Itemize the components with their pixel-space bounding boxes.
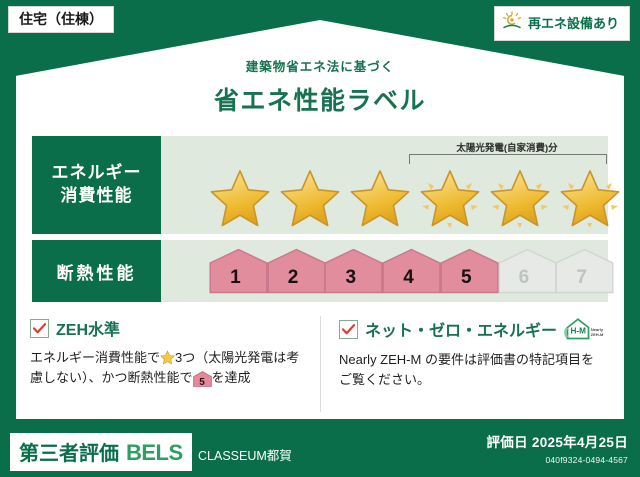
insulation-grade-1: 1 <box>209 248 262 294</box>
label-footer: 第三者評価 BELS CLASSEUM都賀 評価日 2025年4月25日 040… <box>0 419 640 477</box>
footer-meta: 評価日 2025年4月25日 040f9324-0494-4567 <box>486 431 628 465</box>
zeh-standard-checkbox <box>30 319 49 338</box>
insulation-grade-5: 5 <box>440 248 493 294</box>
check-icon <box>33 323 46 334</box>
energy-label-line1: エネルギー <box>52 162 142 185</box>
energy-performance-panel: エネルギー 消費性能 太陽光発電(自家消費)分 <box>32 136 608 234</box>
heading-subtitle: 建築物省エネ法に基づく <box>0 56 640 75</box>
net-zero-energy-header: ネット・ゼロ・エネルギー H-M Nearly ZEH-M <box>339 316 606 342</box>
inline-grade-badge: 5 <box>193 371 212 387</box>
net-zero-energy-body: Nearly ZEH-M の要件は評価書の特記項目をご覧ください。 <box>339 350 606 390</box>
solar-bracket <box>409 154 607 164</box>
net-zero-energy-column: ネット・ゼロ・エネルギー H-M Nearly ZEH-M Nearly ZEH… <box>320 316 620 412</box>
insulation-grade-2: 2 <box>267 248 320 294</box>
zeh-m-logo-icon: H-M Nearly ZEH-M <box>564 316 606 342</box>
heading-title: 省エネ性能ラベル <box>0 81 640 117</box>
star-solar <box>419 168 481 230</box>
energy-performance-label-box: エネルギー 消費性能 <box>32 136 161 234</box>
insulation-performance-panel: 断熱性能 1234567 <box>32 240 608 302</box>
net-zero-energy-title: ネット・ゼロ・エネルギー <box>365 317 557 341</box>
grade-value: 6 <box>519 267 530 289</box>
bels-certification-box: 第三者評価 BELS <box>10 433 192 471</box>
insulation-grade-7: 7 <box>555 248 608 294</box>
evaluation-date: 評価日 2025年4月25日 <box>486 431 628 451</box>
criteria-columns: ZEH水準 エネルギー消費性能で3つ（太陽光発電は考慮しない）、かつ断熱性能で5… <box>20 316 620 412</box>
sun-icon <box>501 11 523 36</box>
insulation-grade-6: 6 <box>498 248 551 294</box>
zeh-body-part3: を達成 <box>212 370 251 385</box>
bels-en-label: BELS <box>126 440 183 466</box>
zeh-m-logo-text: H-M <box>570 327 586 336</box>
insulation-label: 断熱性能 <box>57 259 137 284</box>
zeh-standard-column: ZEH水準 エネルギー消費性能で3つ（太陽光発電は考慮しない）、かつ断熱性能で5… <box>20 316 320 412</box>
net-zero-checkbox <box>339 320 358 339</box>
renewable-equipment-label: 再エネ設備あり <box>528 17 619 30</box>
star-icon <box>209 168 271 230</box>
energy-stars-area: 太陽光発電(自家消費)分 <box>161 136 608 234</box>
inline-grade-value: 5 <box>199 377 205 388</box>
insulation-performance-label-box: 断熱性能 <box>32 240 161 302</box>
grade-value: 1 <box>230 267 241 289</box>
star-icon <box>489 168 551 230</box>
zeh-standard-title: ZEH水準 <box>56 316 120 340</box>
zeh-m-logo-sub2: ZEH-M <box>591 332 604 337</box>
zeh-body-part1: エネルギー消費性能で <box>30 350 160 365</box>
star-solar <box>559 168 621 230</box>
star-icon <box>279 168 341 230</box>
insulation-grades-area: 1234567 <box>161 240 608 302</box>
star-filled <box>209 168 271 230</box>
insulation-grade-3: 3 <box>324 248 377 294</box>
star-filled <box>349 168 411 230</box>
grade-value: 5 <box>461 267 472 289</box>
insulation-grade-row: 1234567 <box>161 248 608 294</box>
star-icon <box>419 168 481 230</box>
inline-star-icon <box>160 350 175 365</box>
building-name: CLASSEUM都賀 <box>198 445 292 464</box>
grade-value: 2 <box>288 267 299 289</box>
zeh-standard-body: エネルギー消費性能で3つ（太陽光発電は考慮しない）、かつ断熱性能で5を達成 <box>30 348 306 388</box>
star-solar <box>489 168 551 230</box>
check-icon <box>342 324 355 335</box>
star-icon <box>559 168 621 230</box>
label-heading: 建築物省エネ法に基づく 省エネ性能ラベル <box>0 56 640 117</box>
evaluation-id: 040f9324-0494-4567 <box>486 455 628 465</box>
dwelling-type-chip: 住宅（住棟） <box>8 6 114 33</box>
solar-annotation-text: 太陽光発電(自家消費)分 <box>456 143 557 154</box>
star-icon <box>349 168 411 230</box>
star-filled <box>279 168 341 230</box>
grade-value: 3 <box>346 267 357 289</box>
energy-label-line2: 消費性能 <box>61 185 133 208</box>
insulation-grade-4: 4 <box>382 248 435 294</box>
renewable-equipment-badge: 再エネ設備あり <box>494 6 630 41</box>
energy-performance-label: 住宅（住棟） 再エネ設備あり 建築物省エネ法に基づく 省エネ性能ラベル <box>0 0 640 477</box>
grade-value: 4 <box>403 267 414 289</box>
star-rating <box>161 168 608 230</box>
bels-jp-label: 第三者評価 <box>19 437 119 466</box>
grade-value: 7 <box>576 267 587 289</box>
dwelling-type-label: 住宅（住棟） <box>19 11 103 27</box>
zeh-standard-header: ZEH水準 <box>30 316 306 340</box>
